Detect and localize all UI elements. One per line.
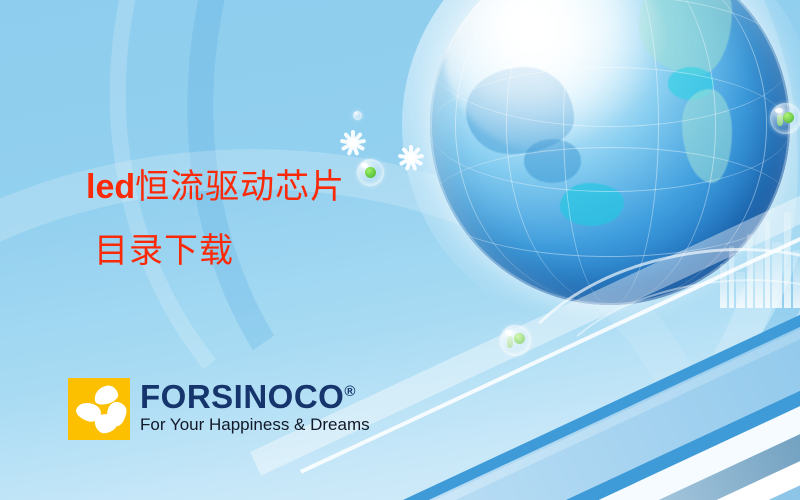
company-logo[interactable]: FORSINOCO® For Your Happiness & Dreams <box>68 378 370 440</box>
company-name-text: FORSINOCO <box>140 378 344 415</box>
logo-text-block: FORSINOCO® For Your Happiness & Dreams <box>140 378 370 435</box>
headline-latin-prefix: led <box>86 168 135 206</box>
bubble-specular <box>775 108 783 113</box>
slide-canvas: led恒流驱动芯片 目录下载 FORSINOCO® For Your Happi… <box>0 0 800 500</box>
four-petal-pinwheel-icon <box>68 378 130 440</box>
headline-line-1: led恒流驱动芯片 <box>86 166 345 210</box>
bubble-with-green-plant-icon <box>770 103 800 134</box>
bubble-specular <box>361 163 368 168</box>
registered-trademark-icon: ® <box>344 383 356 400</box>
bubble-icon <box>353 111 362 120</box>
bubble-with-green-globe-icon <box>357 159 384 186</box>
headline-cjk-suffix: 恒流驱动芯片 <box>135 169 345 206</box>
flower-burst-icon <box>398 145 424 171</box>
green-globe-dot <box>365 167 376 178</box>
plant-stem <box>777 114 783 126</box>
company-tagline: For Your Happiness & Dreams <box>140 415 370 435</box>
company-name: FORSINOCO® <box>140 380 370 414</box>
headline-line-2: 目录下载 <box>94 230 234 274</box>
flower-burst-icon <box>343 133 363 153</box>
plant-leaf <box>783 112 794 123</box>
